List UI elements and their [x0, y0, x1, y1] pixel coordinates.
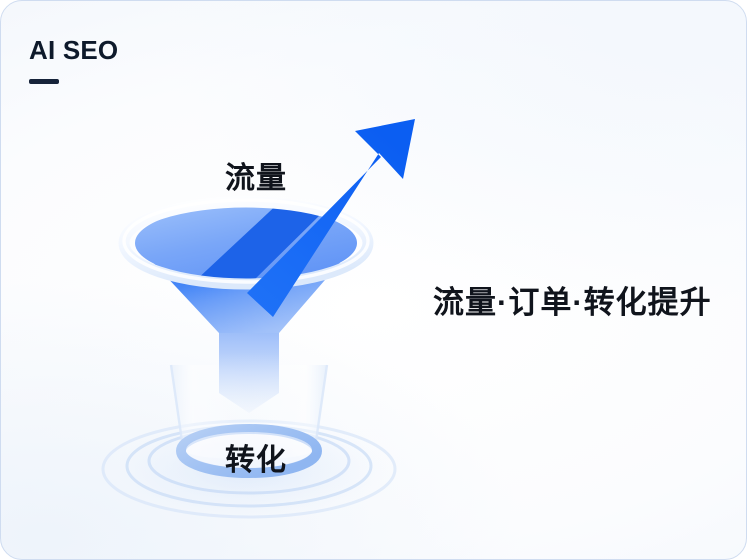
heading-block: AI SEO	[29, 37, 118, 84]
title-underline-rule	[29, 79, 59, 84]
funnel-label-traffic: 流量	[225, 153, 287, 197]
tagline-text: 流量·订单·转化提升	[433, 277, 712, 322]
ai-seo-card: AI SEO 流量·订单·转化提升	[0, 0, 747, 560]
page-title: AI SEO	[29, 37, 118, 63]
funnel-label-conversion: 转化	[225, 435, 287, 479]
